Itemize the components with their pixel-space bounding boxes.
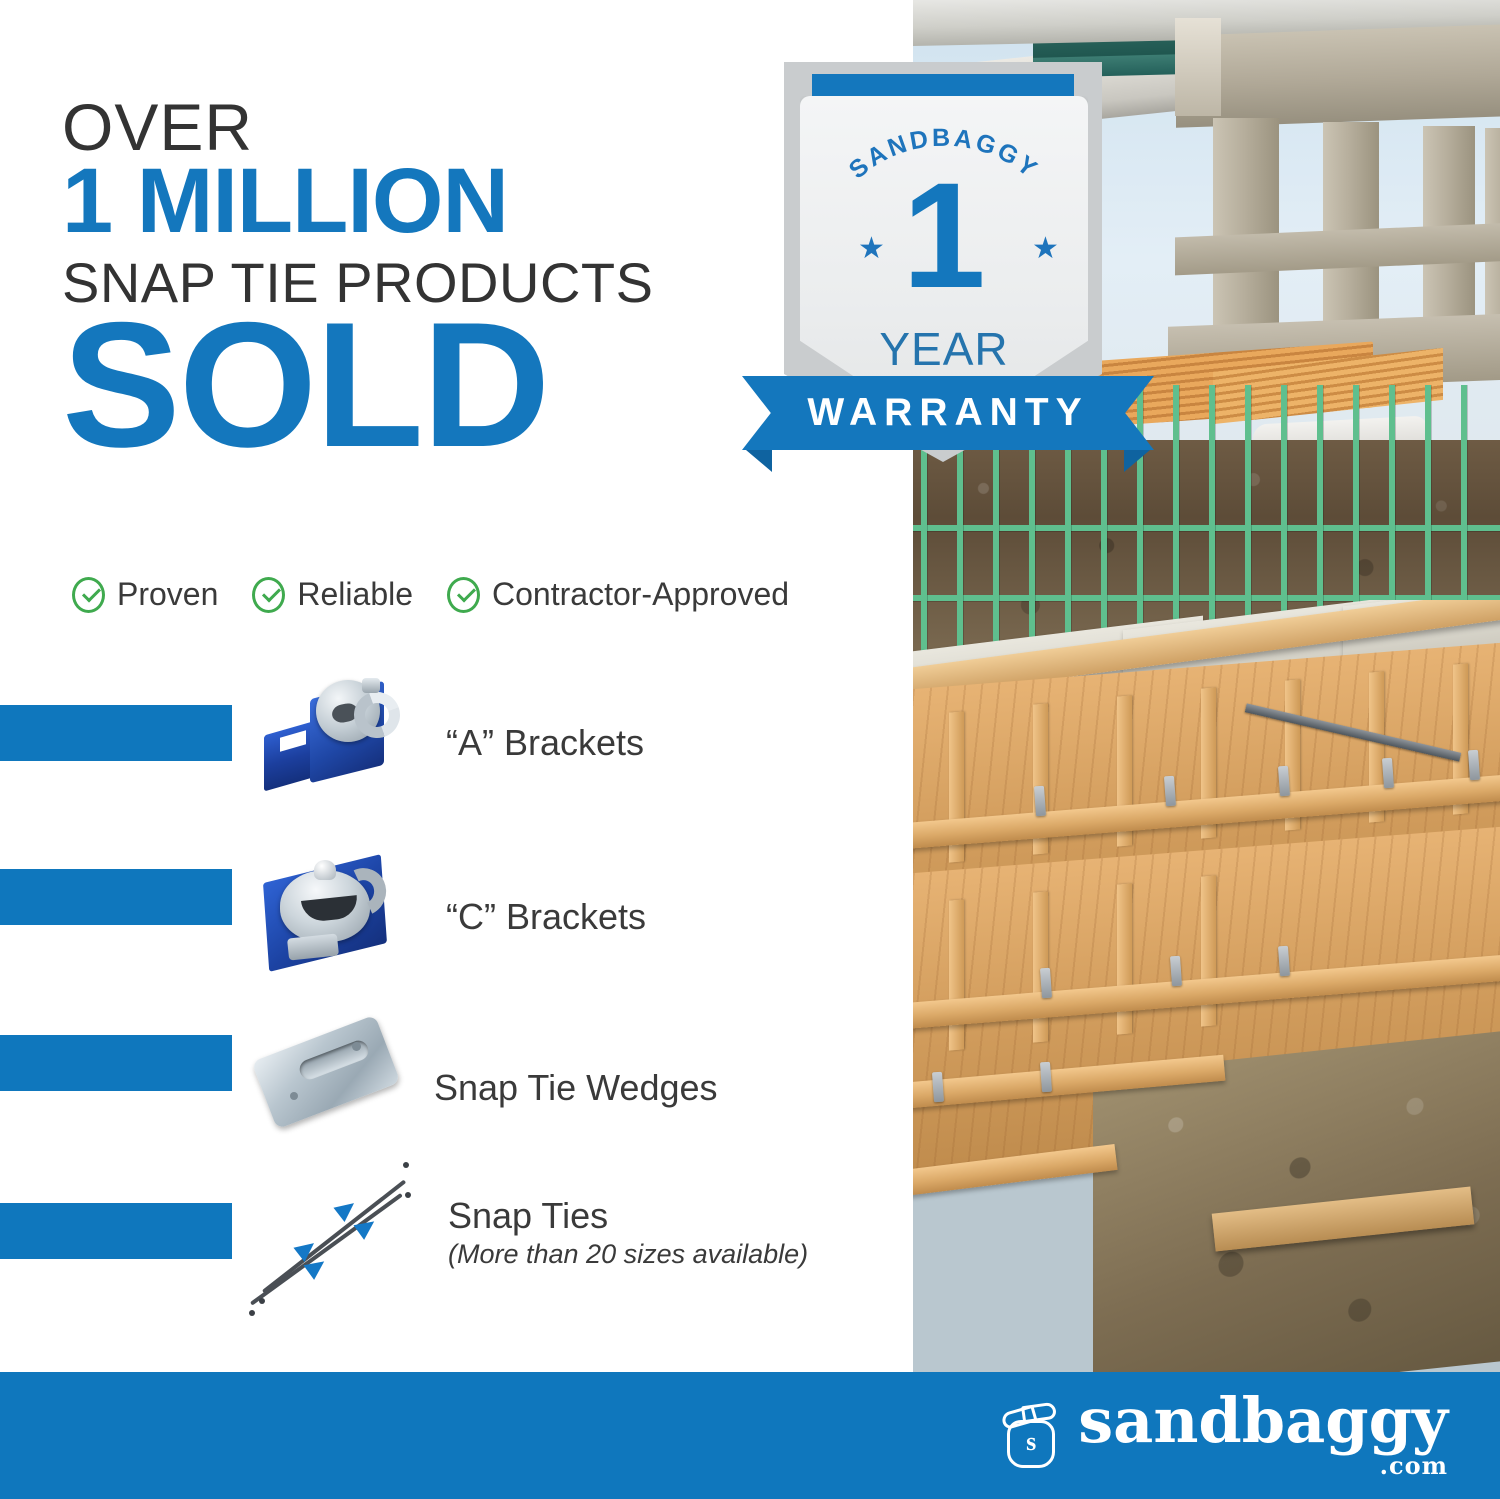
bridge-abutment-cap — [1176, 24, 1500, 128]
ribbon-tail-left — [746, 450, 772, 472]
accent-bar-1 — [0, 705, 232, 761]
badge-period: YEAR — [800, 322, 1088, 376]
accent-bar-4 — [0, 1203, 232, 1259]
sandbaggy-logo[interactable]: s sandbaggy .com — [1000, 1391, 1448, 1479]
badge-number: 1 — [800, 160, 1088, 310]
ribbon-tail-right — [1124, 450, 1150, 472]
footer-bar: s sandbaggy .com — [0, 1372, 1500, 1499]
feature-item-proven: Proven — [72, 576, 218, 613]
bridge-pier-1 — [1213, 118, 1279, 338]
feature-label: Proven — [117, 576, 218, 613]
logo-text-block: sandbaggy .com — [1078, 1391, 1448, 1479]
snap-tie-wedge-product-image — [248, 1018, 408, 1158]
infographic-page: OVER 1 MILLION SNAP TIE PRODUCTS SOLD Pr… — [0, 0, 1500, 1499]
feature-item-reliable: Reliable — [252, 576, 413, 613]
product-row-a-brackets: “A” Brackets — [258, 668, 644, 818]
logo-wordmark: sandbaggy — [1078, 1391, 1448, 1448]
accent-bar-3 — [0, 1035, 232, 1091]
feature-label: Contractor-Approved — [492, 576, 789, 613]
warranty-ribbon-label: WARRANTY — [742, 376, 1154, 450]
a-bracket-product-image — [258, 668, 408, 818]
sandbag-icon-letter: s — [1000, 1427, 1062, 1457]
product-row-c-brackets: “C” Brackets — [258, 842, 646, 992]
feature-item-contractor-approved: Contractor-Approved — [447, 576, 789, 613]
check-circle-icon — [72, 577, 105, 613]
concrete-formwork — [913, 600, 1500, 1372]
accent-bar-2 — [0, 869, 232, 925]
warranty-badge: SANDBAGGY ★ ★ 1 YEAR WARRANTY — [742, 52, 1154, 482]
product-row-snap-ties: Snap Ties (More than 20 sizes available) — [245, 1150, 808, 1315]
product-label: “A” Brackets — [446, 722, 644, 764]
check-circle-icon — [252, 577, 285, 613]
product-label: Snap Ties — [448, 1195, 808, 1237]
snap-ties-product-image — [245, 1150, 420, 1315]
product-sublabel: (More than 20 sizes available) — [448, 1239, 808, 1270]
product-row-snap-tie-wedges: Snap Tie Wedges — [248, 1018, 718, 1158]
sandbag-icon: s — [1000, 1401, 1062, 1471]
check-circle-icon — [447, 577, 480, 613]
feature-label: Reliable — [297, 576, 413, 613]
logo-domain-suffix: .com — [1380, 1451, 1448, 1480]
feature-check-row: Proven Reliable Contractor-Approved — [72, 576, 789, 613]
product-label: Snap Tie Wedges — [434, 1067, 718, 1109]
product-label: “C” Brackets — [446, 896, 646, 938]
bridge-abutment-block — [1175, 18, 1221, 116]
c-bracket-product-image — [258, 842, 408, 992]
